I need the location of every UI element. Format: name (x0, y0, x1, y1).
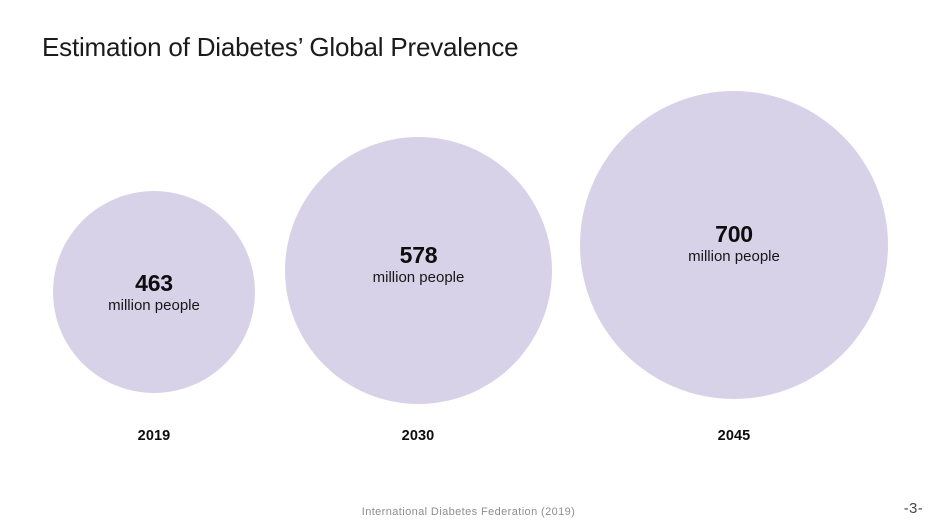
year-label-2019: 2019 (54, 428, 254, 444)
bubble-circle-2019 (53, 191, 255, 393)
bubble-group-2030: 578 million people (285, 137, 552, 404)
bubble-circle-2045 (580, 91, 888, 399)
page-title: Estimation of Diabetes’ Global Prevalenc… (42, 32, 518, 63)
bubble-circle-2030 (285, 137, 552, 404)
bubble-group-2019: 463 million people (53, 191, 255, 393)
source-citation: International Diabetes Federation (2019) (0, 506, 937, 518)
bubble-group-2045: 700 million people (580, 91, 888, 399)
page-number: -3- (904, 500, 923, 517)
year-label-2045: 2045 (634, 428, 834, 444)
year-label-2030: 2030 (318, 428, 518, 444)
slide-canvas: Estimation of Diabetes’ Global Prevalenc… (0, 0, 937, 527)
